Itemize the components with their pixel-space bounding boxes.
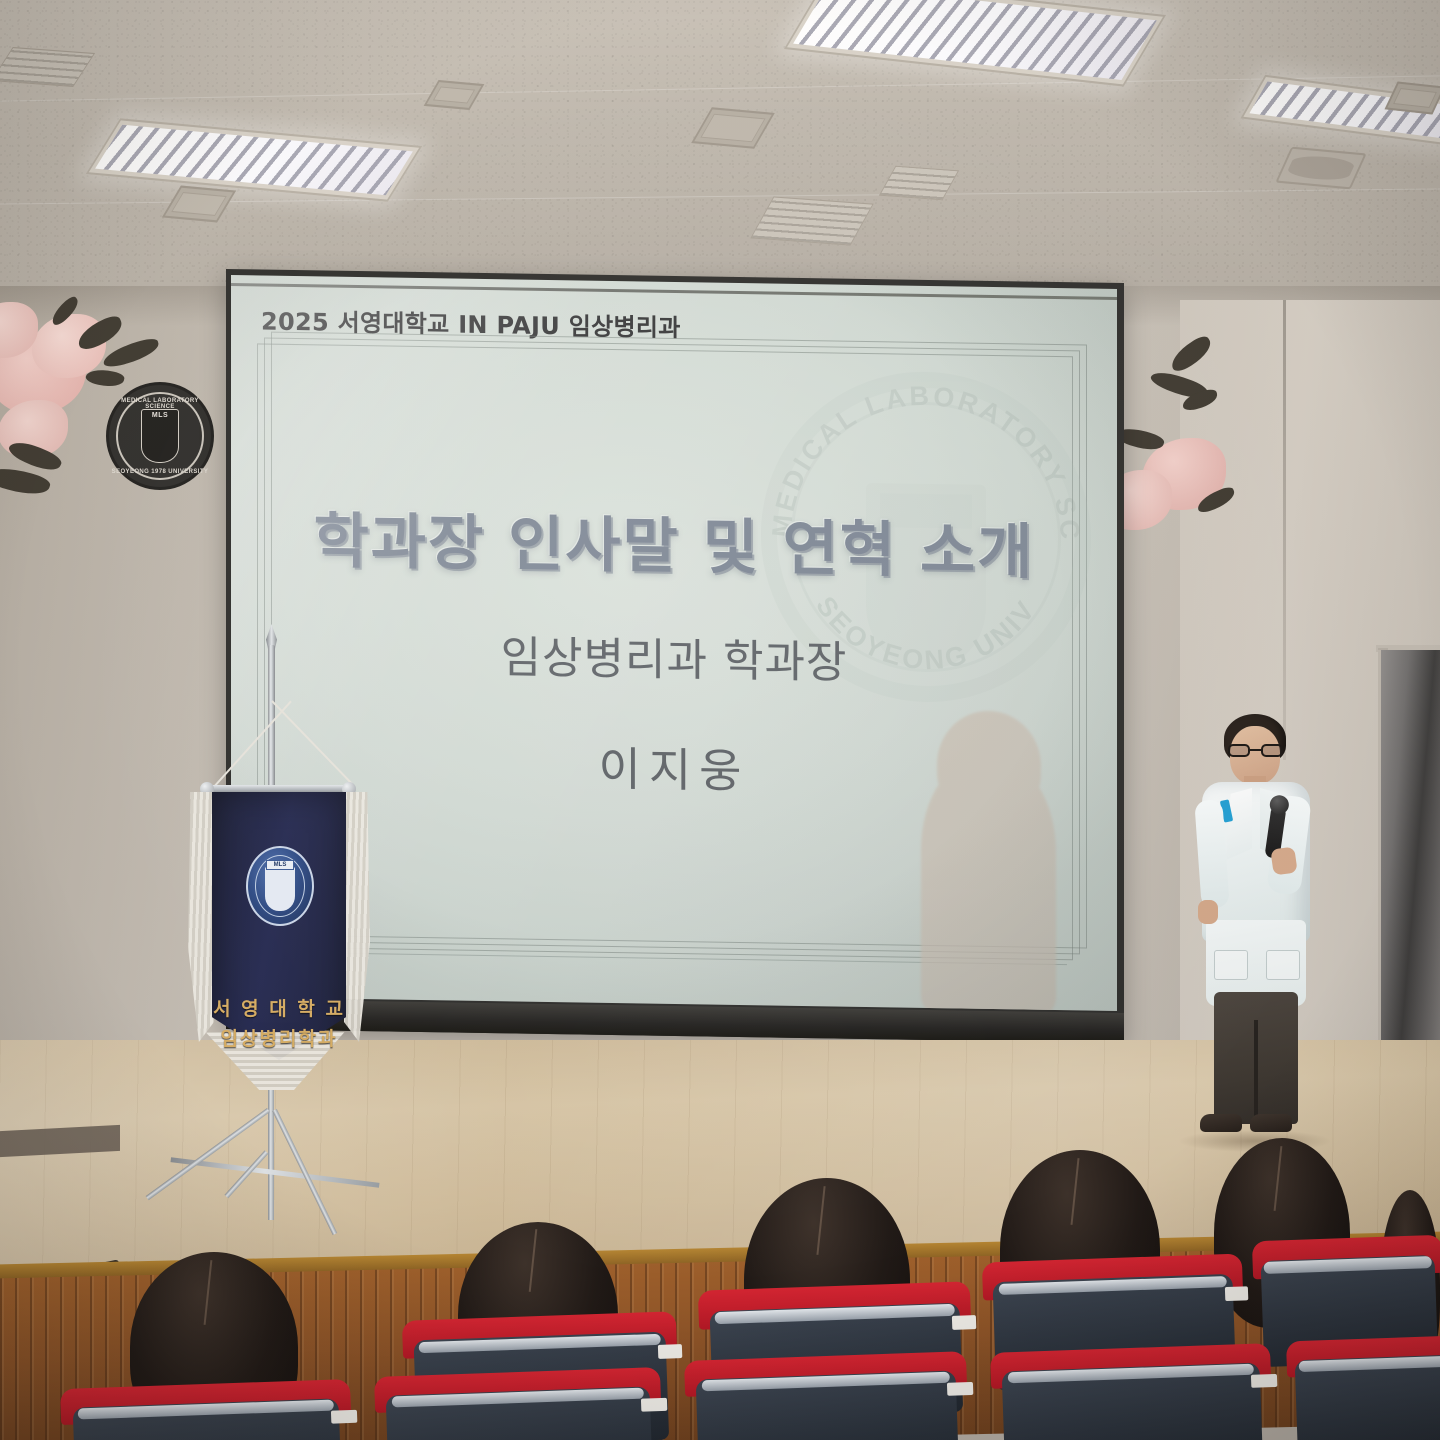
presenter-shoe-right xyxy=(1250,1114,1292,1132)
presenter-hand-left xyxy=(1198,900,1218,924)
slide-title: 학과장 인사말 및 연혁 소개 xyxy=(231,491,1117,592)
coat-pocket-left xyxy=(1214,950,1248,980)
presenter-shoe-left xyxy=(1200,1114,1242,1132)
pennant-emblem: MLS xyxy=(246,846,314,926)
seat[interactable] xyxy=(1286,1335,1440,1440)
audience-head-shadow xyxy=(921,756,1056,1011)
seat[interactable] xyxy=(684,1351,970,1440)
slide-header-rule xyxy=(231,283,1117,300)
ceiling-speaker xyxy=(1275,147,1366,190)
seat[interactable] xyxy=(374,1367,664,1440)
coat-pocket-right xyxy=(1266,950,1300,980)
glasses-icon xyxy=(1228,744,1283,757)
auditorium-photo: MEDICAL LABORATORY SCIENCE MLS SEOYEONG … xyxy=(0,0,1440,1440)
floral-decal-right xyxy=(1128,342,1328,562)
wall-mls-emblem: MEDICAL LABORATORY SCIENCE MLS SEOYEONG … xyxy=(106,382,214,490)
seat[interactable] xyxy=(60,1379,354,1440)
presenter-hand-right xyxy=(1270,846,1297,875)
pennant-line2: 임상병리학과 xyxy=(212,1024,346,1051)
seat[interactable] xyxy=(990,1343,1274,1440)
presenter xyxy=(1176,700,1326,1150)
pennant-line1: 서 영 대 학 교 xyxy=(212,994,346,1021)
wall-emblem-arc-bottom: SEOYEONG 1978 UNIVERSITY xyxy=(109,469,211,475)
pennant-emblem-shield-label: MLS xyxy=(266,860,294,870)
doorway-opening[interactable] xyxy=(1378,650,1440,1045)
trouser-seam xyxy=(1254,1020,1258,1124)
wall-emblem-arc-top: MEDICAL LABORATORY SCIENCE xyxy=(109,398,211,410)
